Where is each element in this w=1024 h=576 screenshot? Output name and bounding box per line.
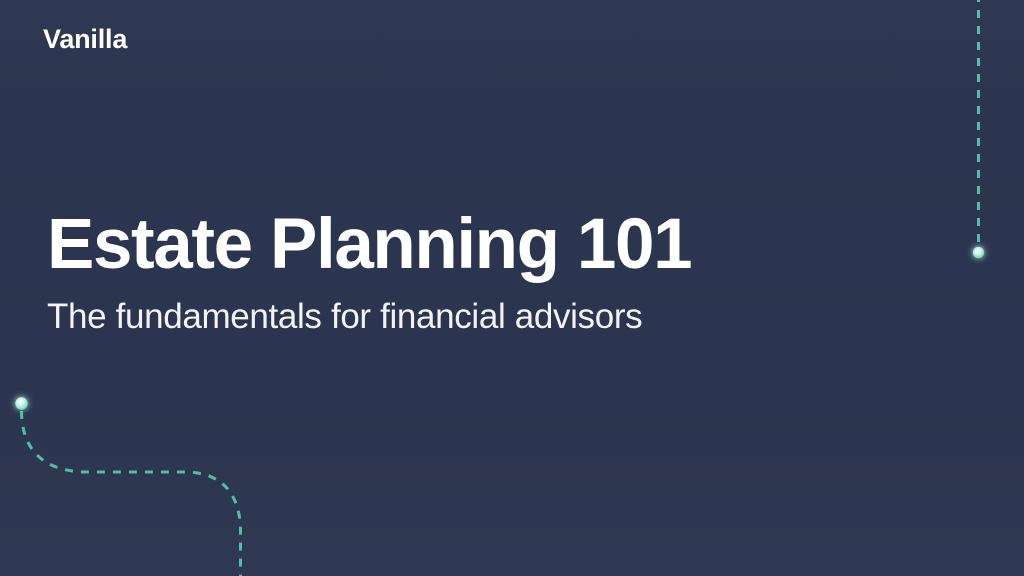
- slide-subtitle: The fundamentals for financial advisors: [47, 298, 827, 337]
- title-slide: Vanilla Estate Planning 101 The fundamen…: [0, 0, 1024, 576]
- dashed-curve-endpoint-dot: [15, 397, 27, 409]
- dashed-curved-line: [22, 411, 241, 576]
- brand-logo[interactable]: Vanilla: [43, 26, 127, 53]
- slide-title: Estate Planning 101: [47, 209, 827, 280]
- headline-block: Estate Planning 101 The fundamentals for…: [47, 209, 827, 337]
- dashed-line-endpoint-dot: [973, 247, 984, 258]
